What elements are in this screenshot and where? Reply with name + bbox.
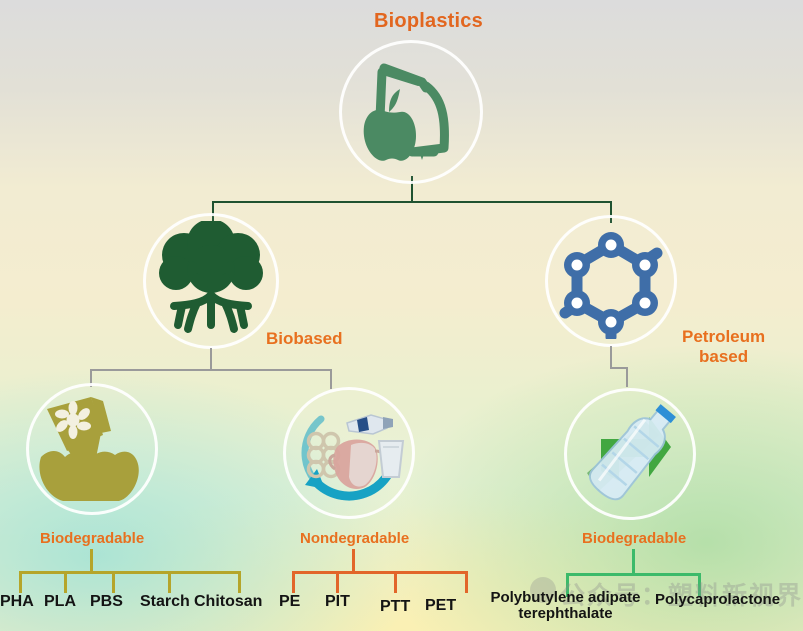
connector-biodeg-horizontal [19, 571, 241, 574]
leaf-pcl: Polycaprolactone [655, 591, 780, 608]
compost-seed-bag-icon [33, 391, 151, 507]
connector-nondeg-horizontal [292, 571, 468, 574]
connector-level1-horizontal [212, 201, 612, 203]
label-petroleum-line1: Petroleum [682, 327, 765, 347]
leaf-pbat-line2: terephthalate [483, 606, 648, 622]
leaf-pla: PLA [44, 593, 76, 611]
label-nondegradable: Nondegradable [300, 530, 409, 547]
plastic-waste-recycle-icon [289, 393, 409, 513]
leaf-pbat-line1: Polybutylene adipate [490, 589, 640, 606]
node-nondegradable[interactable] [283, 387, 415, 519]
benzene-ring-icon [553, 223, 669, 339]
connector-biobased-down [210, 348, 212, 370]
connector-leaf-pbs [112, 571, 115, 593]
connector-petroleum-down [610, 346, 612, 368]
connector-leaf-pet [465, 571, 468, 593]
connector-biobased-horizontal [90, 369, 332, 371]
connector-leaf-pe [292, 571, 295, 593]
leaf-pha: PHA [0, 593, 34, 611]
connector-leaf-ptt [394, 571, 397, 593]
leaf-starch: Starch [140, 593, 190, 611]
node-bioplastics[interactable] [339, 40, 483, 184]
node-petroleum-based[interactable] [545, 215, 677, 347]
leaf-pbs: PBS [90, 593, 123, 611]
label-biodegradable-biobased: Biodegradable [40, 530, 144, 547]
leaf-pbat: Polybutylene adipate terephthalate [483, 590, 648, 622]
node-biodegradable-petroleum[interactable] [564, 388, 696, 520]
connector-leaf-pit [336, 571, 339, 593]
bottle-recycle-icon [571, 395, 689, 513]
page-title: Bioplastics [374, 10, 483, 33]
leaf-pe: PE [279, 593, 300, 611]
connector-biodeg2-down [632, 549, 635, 575]
label-biobased: Biobased [266, 329, 343, 349]
diagram-canvas: Bioplastics [0, 0, 803, 631]
connector-petroleum-down2 [626, 367, 628, 387]
connector-leaf-chitosan [238, 571, 241, 593]
connector-nondeg-down [352, 549, 355, 573]
leaf-ptt: PTT [380, 598, 410, 616]
connector-leaf-starch [168, 571, 171, 593]
leaf-pet: PET [425, 597, 456, 615]
label-petroleum-line2: based [682, 347, 765, 367]
node-biobased[interactable] [143, 213, 279, 349]
label-biodegradable-petroleum: Biodegradable [582, 530, 686, 547]
connector-to-nondegradable [330, 369, 332, 389]
shopping-bag-apple-icon [356, 56, 466, 168]
connector-biodeg-down [90, 549, 93, 573]
leaf-pit: PIT [325, 593, 350, 611]
connector-leaf-pla [64, 571, 67, 593]
node-biodegradable-biobased[interactable] [26, 383, 158, 515]
tree-icon [152, 221, 270, 341]
connector-leaf-pha [19, 571, 22, 593]
label-petroleum-based: Petroleum based [682, 327, 765, 366]
leaf-chitosan: Chitosan [194, 593, 262, 611]
